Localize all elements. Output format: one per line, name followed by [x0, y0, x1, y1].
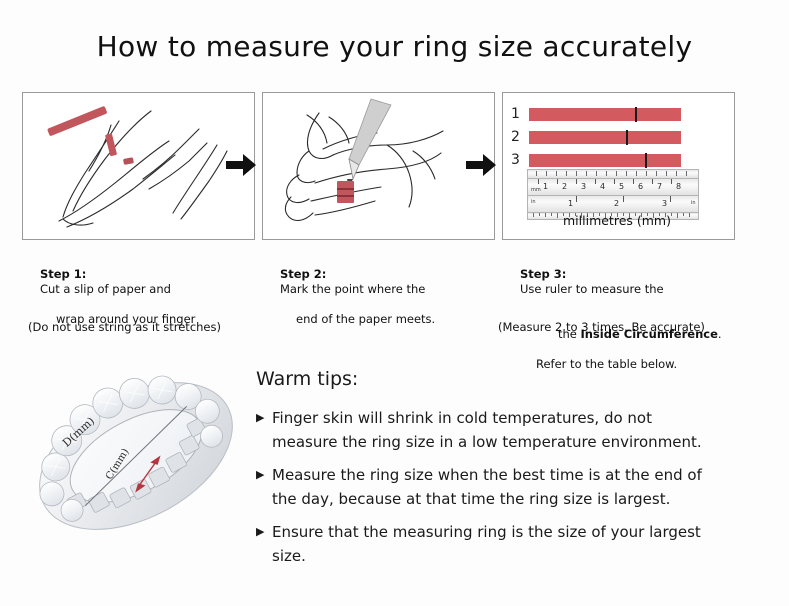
ruler-imperial-tick-label: 2 [614, 200, 619, 208]
ruler-band-metric: mm 1 2 3 4 5 6 7 8 [527, 179, 699, 196]
ruler-imperial-tick-label: 1 [568, 200, 573, 208]
step-3-line-2: the Inside Circumference. [498, 312, 750, 357]
warm-tips-section: Warm tips: ▶ Finger skin will shrink in … [256, 368, 756, 577]
ruler-metric-tick-label: 4 [600, 183, 605, 191]
step-1-label: Step 1: [40, 267, 86, 281]
step-1-illustration-panel [22, 92, 255, 240]
step-1-caption: Step 1: Cut a slip of paper and wrap aro… [18, 252, 263, 327]
warm-tips-heading: Warm tips: [256, 368, 756, 390]
triangle-bullet-icon: ▶ [256, 406, 272, 430]
ruler-metric-tick-label: 3 [581, 183, 586, 191]
steps-section: 1 2 3 [0, 92, 789, 342]
strip-bar [529, 154, 681, 167]
tip-text: Finger skin will shrink in cold temperat… [272, 406, 722, 454]
ruler-metric-tick-label: 6 [638, 183, 643, 191]
ruler-metric-unit: mm [531, 187, 541, 193]
ring-illustration [20, 358, 252, 553]
triangle-bullet-icon: ▶ [256, 520, 272, 544]
measured-strips-group: 1 2 3 [511, 105, 681, 174]
step-1-note: (Do not use string as it stretches) [28, 320, 221, 334]
strip-number: 1 [511, 106, 529, 122]
arrow-right-icon-2 [466, 152, 496, 178]
tip-text: Ensure that the measuring ring is the si… [272, 520, 722, 568]
step-3-illustration-panel: 1 2 3 [502, 92, 735, 240]
strip-mark-tick [645, 153, 647, 168]
ruler-metric-tick-label: 5 [619, 183, 624, 191]
strip-bar [529, 108, 681, 121]
strip-number: 3 [511, 152, 529, 168]
step-2-label: Step 2: [280, 267, 326, 281]
unit-caption: millimetres (mm) [563, 213, 671, 228]
arrow-right-icon-1 [226, 152, 256, 178]
page-title: How to measure your ring size accurately [0, 30, 789, 63]
tip-item: ▶ Measure the ring size when the best ti… [256, 463, 756, 511]
step-3-label: Step 3: [520, 267, 566, 281]
strip-mark-tick [635, 107, 637, 122]
strip-number: 2 [511, 129, 529, 145]
step-2-line-2: end of the paper meets. [258, 312, 503, 327]
ruler-metric-tick-label: 2 [562, 183, 567, 191]
step-2-illustration-panel [262, 92, 495, 240]
step-2-caption: Step 2: Mark the point where the end of … [258, 252, 503, 327]
strip-row: 3 [511, 151, 681, 169]
step-3-note: (Measure 2 to 3 times. Be accurate) [498, 320, 705, 334]
strip-mark-tick [626, 130, 628, 145]
ruler-band-top [527, 169, 699, 179]
strip-row: 1 [511, 105, 681, 123]
tip-text: Measure the ring size when the best time… [272, 463, 722, 511]
strip-row: 2 [511, 128, 681, 146]
step-3-line-1: Use ruler to measure the [520, 282, 664, 296]
ruler-metric-tick-label: 7 [657, 183, 662, 191]
ruler-metric-tick-label: 1 [543, 183, 548, 191]
step-1-line-1: Cut a slip of paper and [40, 282, 171, 296]
step-3-line-2-suffix: . [718, 327, 722, 341]
ruler-band-imperial: in 1 2 3 in [527, 196, 699, 213]
tip-item: ▶ Finger skin will shrink in cold temper… [256, 406, 756, 454]
triangle-bullet-icon: ▶ [256, 463, 272, 487]
step-2-line-1: Mark the point where the [280, 282, 425, 296]
ruler-metric-tick-label: 8 [676, 183, 681, 191]
tip-item: ▶ Ensure that the measuring ring is the … [256, 520, 756, 568]
strip-bar [529, 131, 681, 144]
ruler-imperial-tick-label: 3 [662, 200, 667, 208]
step-3-caption: Step 3: Use ruler to measure the the Ins… [498, 252, 750, 372]
